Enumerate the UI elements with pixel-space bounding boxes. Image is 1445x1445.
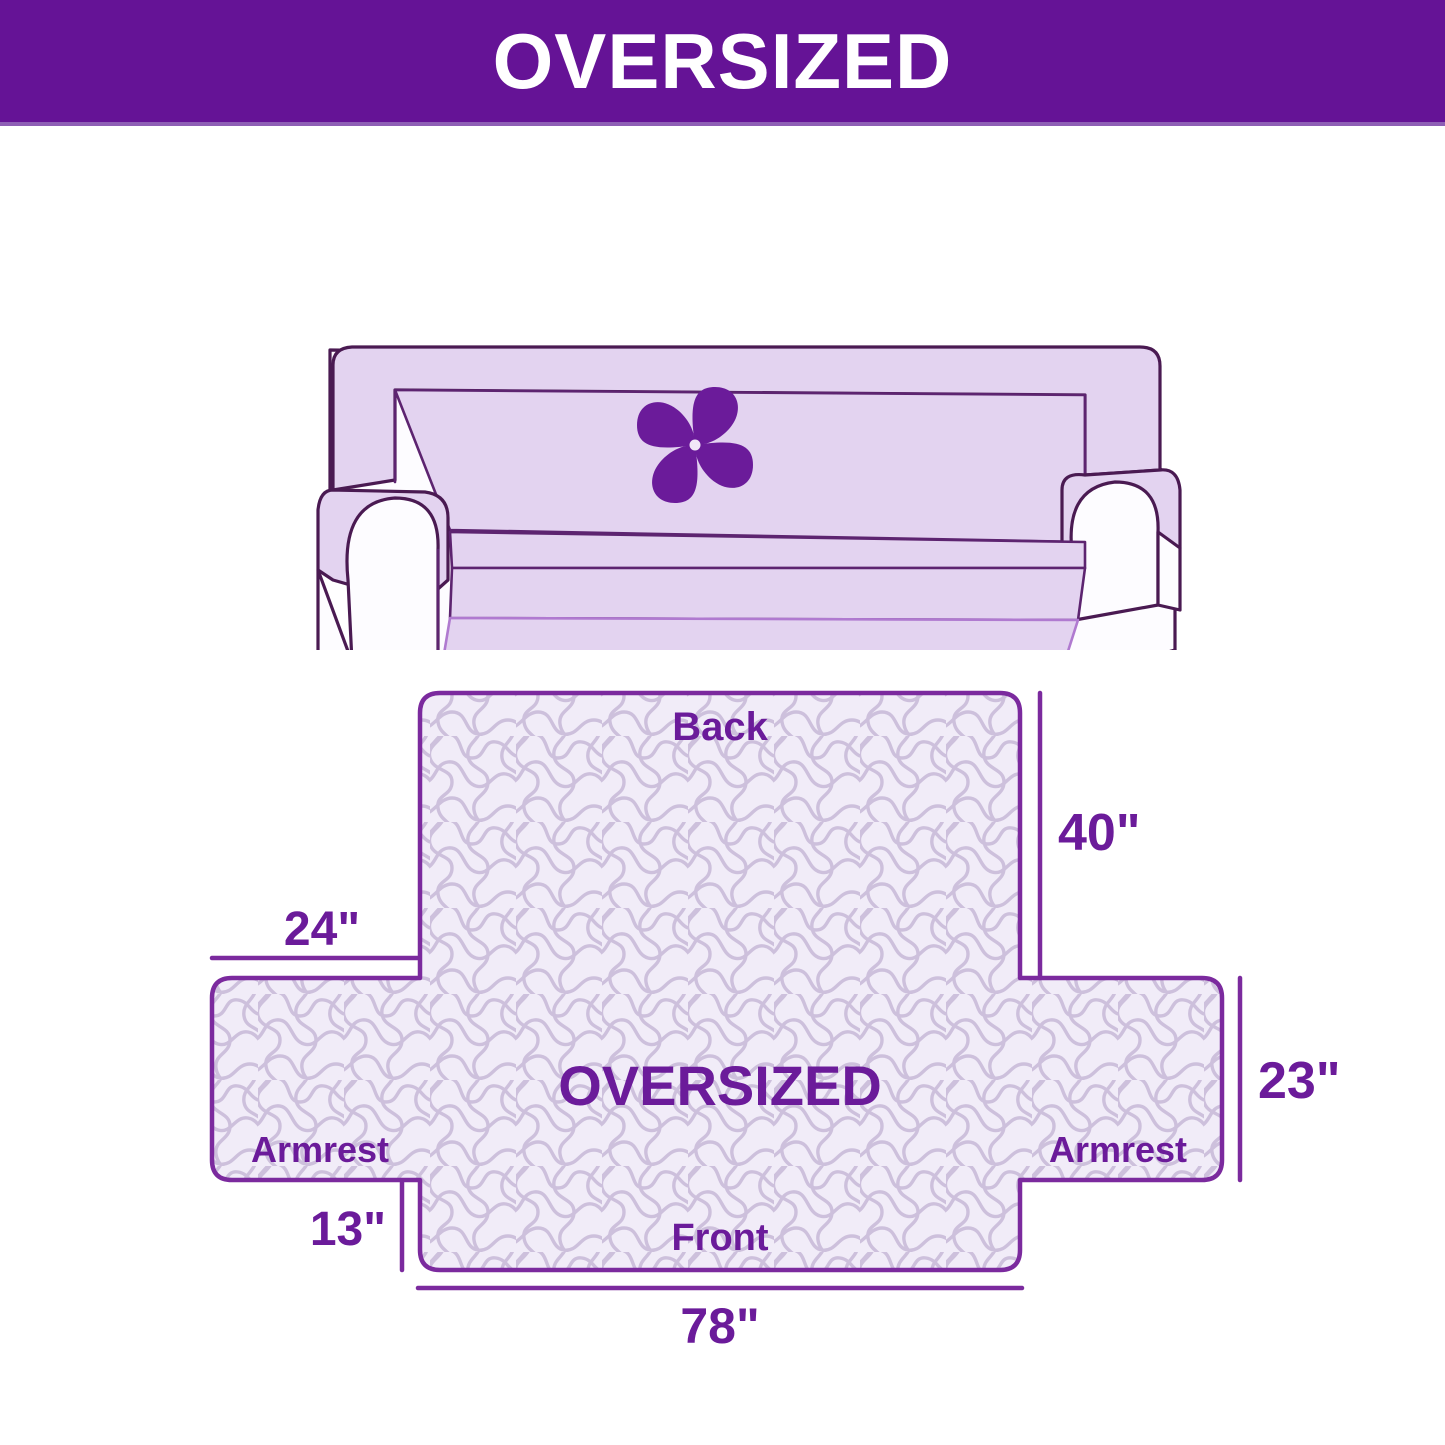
sofa-left-arm [318,490,448,650]
page-title: OVERSIZED [493,22,953,100]
panel-label-armrest-right: Armrest [1049,1129,1187,1170]
cover-shape [212,693,1222,1270]
sofa-backrest [333,347,1160,542]
diagram-center-label: OVERSIZED [558,1054,882,1117]
dimension-label-total-width: 78" [680,1298,759,1350]
sofa-seat [440,532,1085,650]
sofa-illustration: .so { fill: none; stroke: #4a1a52; strok… [0,150,1445,650]
pinwheel-icon [637,387,753,503]
dimension-label-back-height: 40" [1058,804,1141,862]
dimension-label-armrest-height: 23" [1258,1052,1341,1110]
flat-layout-diagram: Back OVERSIZED Armrest Armrest Front 40"… [0,650,1445,1350]
header-divider [0,122,1445,126]
header-banner: OVERSIZED [0,0,1445,122]
panel-label-front: Front [671,1217,768,1259]
dimension-label-armrest-width: 24" [284,903,360,956]
panel-label-armrest-left: Armrest [251,1129,389,1170]
panel-label-back: Back [672,705,768,749]
dimension-label-front-flap: 13" [310,1203,386,1256]
